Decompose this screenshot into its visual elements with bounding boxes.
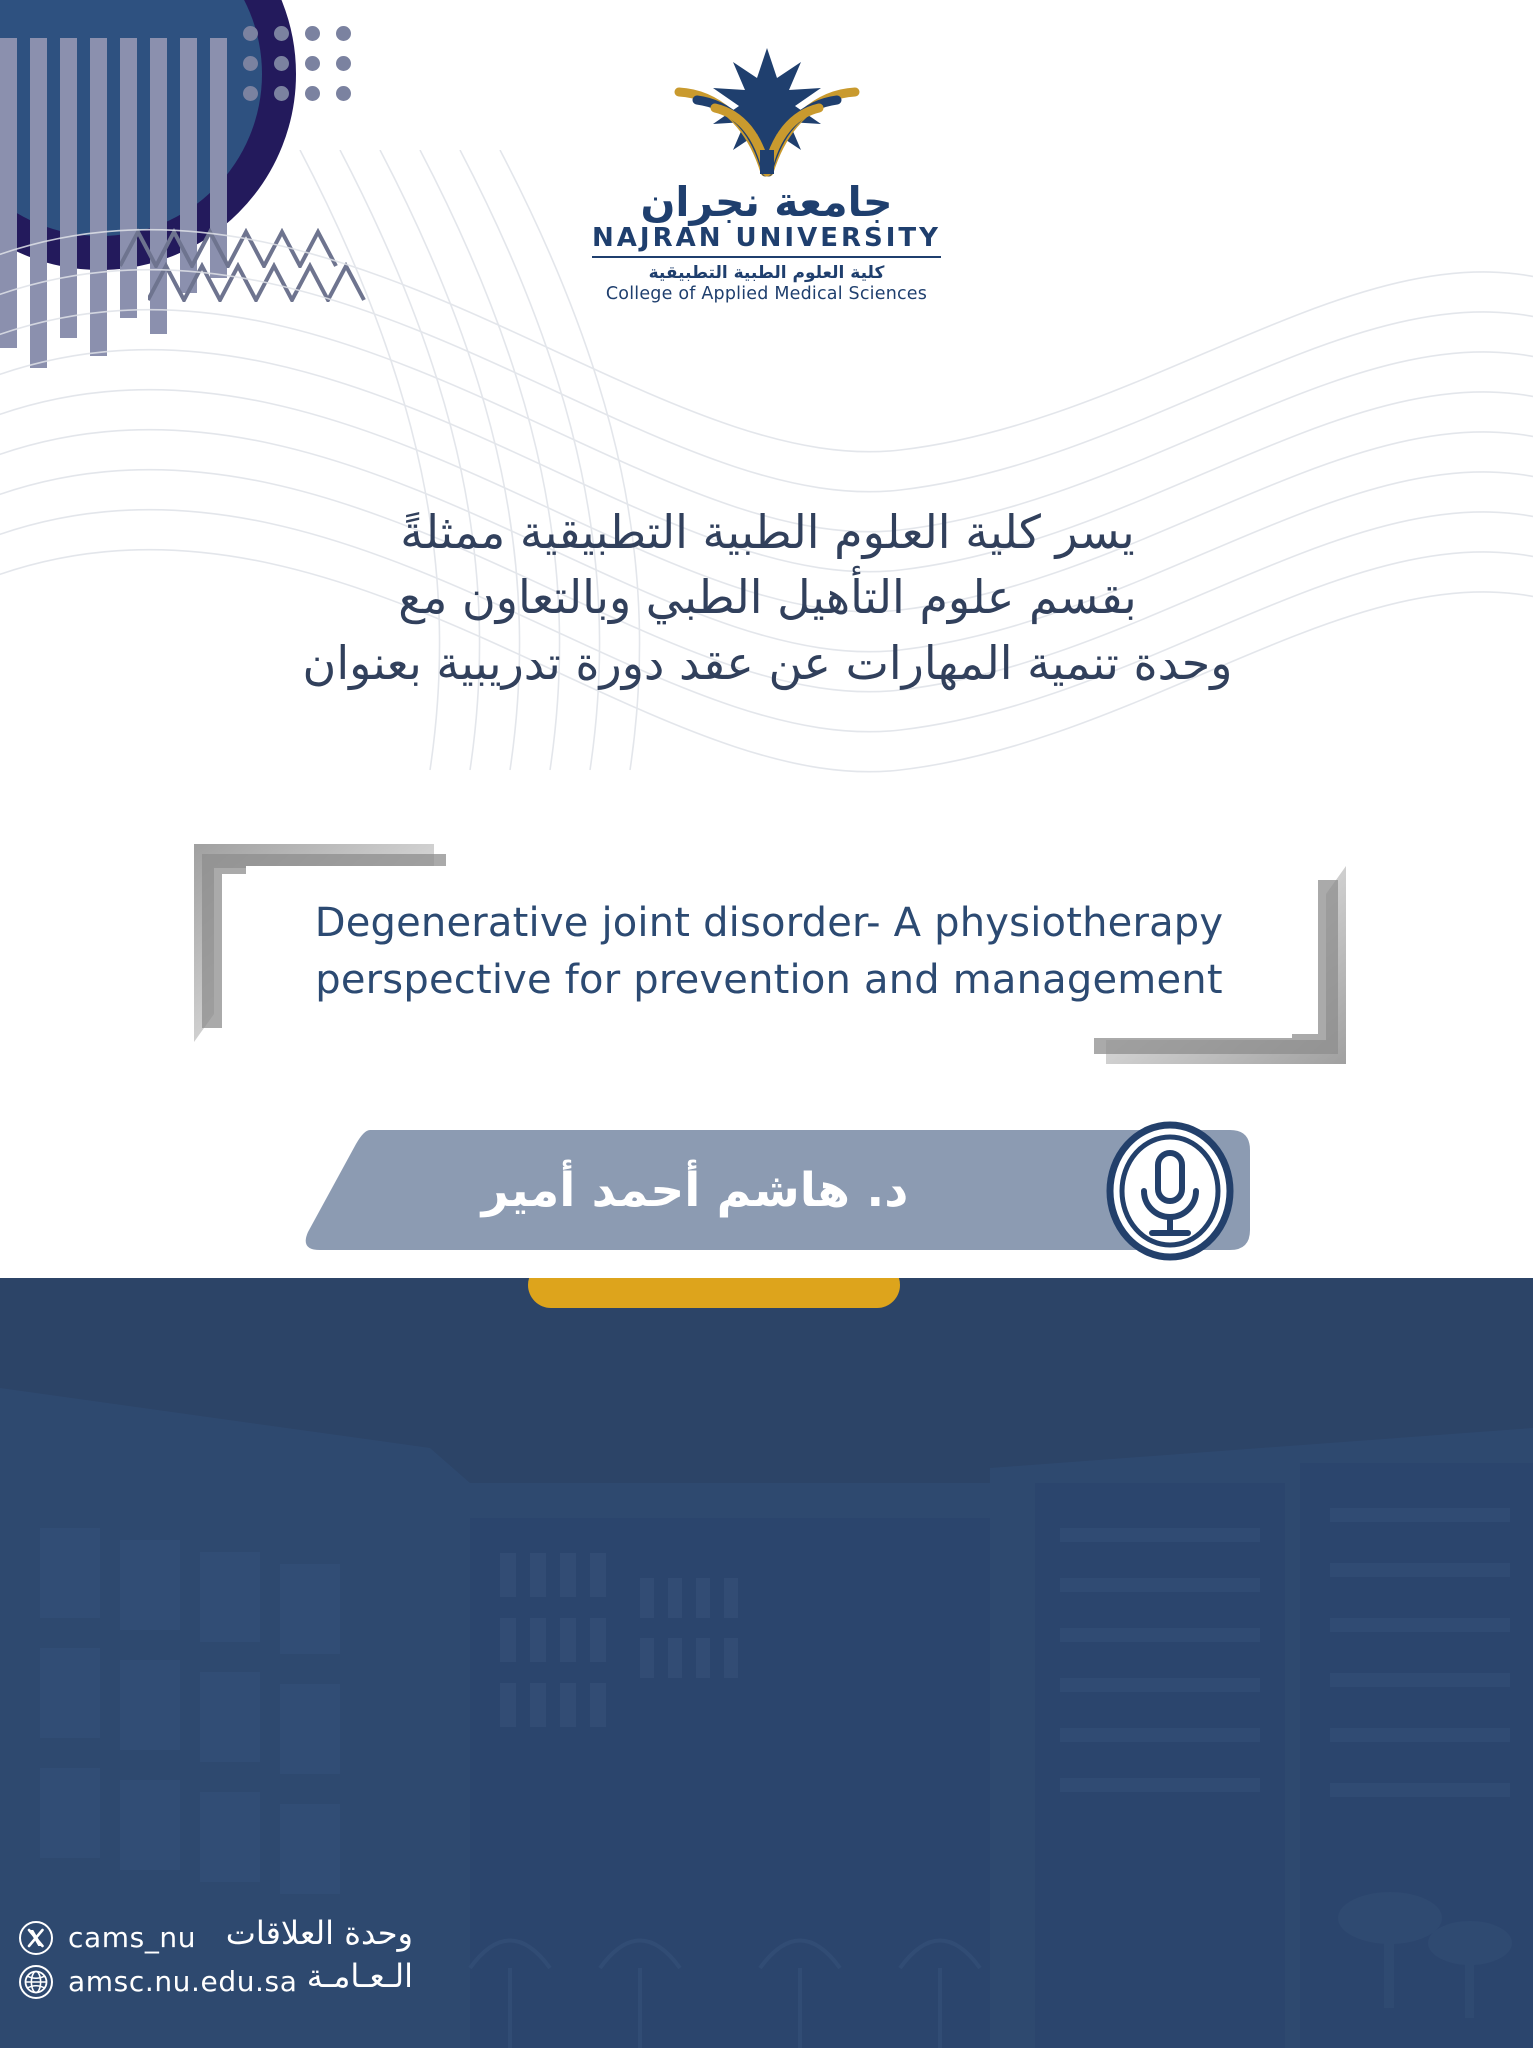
intro-line-1: يسر كلية العلوم الطبية التطبيقية ممثلةً	[140, 500, 1395, 565]
event-poster: جامعة نجران NAJRAN UNIVERSITY كلية العلو…	[0, 0, 1533, 2048]
intro-line-2: بقسم علوم التأهيل الطبي وبالتعاون مع	[140, 565, 1395, 630]
logo-university-name-english: NAJRAN UNIVERSITY	[592, 225, 941, 258]
course-title-line-2: perspective for prevention and managemen…	[315, 957, 1222, 1003]
logo-college-name-arabic: كلية العلوم الطبية التطبيقية	[649, 263, 885, 283]
najran-university-star-book-logo-icon	[667, 46, 867, 178]
logo-college-name-english: College of Applied Medical Sciences	[606, 284, 927, 304]
globe-icon	[18, 1964, 54, 2000]
footer-unit-line-1: وحدة العلاقات	[226, 1912, 413, 1955]
footer-unit-line-2: الـعـامـة	[226, 1955, 413, 1998]
logo-university-name-arabic: جامعة نجران	[640, 182, 892, 223]
course-title-card: Degenerative joint disorder- A physiothe…	[228, 852, 1310, 1052]
contact-twitter-handle: cams_nu	[68, 1924, 196, 1952]
intro-paragraph: يسر كلية العلوم الطبية التطبيقية ممثلةً …	[140, 500, 1395, 696]
speaker-name: د. هاشم أحمد أمير	[300, 1130, 1090, 1250]
footer-band: cams_nu amsc.nu.edu.sa وحدة العلاقات الـ…	[0, 1278, 1533, 2048]
course-title-line-1: Degenerative joint disorder- A physiothe…	[315, 900, 1224, 946]
course-title-box: Degenerative joint disorder- A physiothe…	[246, 866, 1292, 1038]
footer-department-name: وحدة العلاقات الـعـامـة	[226, 1912, 413, 1998]
intro-line-3: وحدة تنمية المهارات عن عقد دورة تدريبية …	[140, 631, 1395, 696]
speaker-bar: د. هاشم أحمد أمير	[300, 1130, 1250, 1250]
gold-accent-bar	[528, 1278, 900, 1308]
microphone-icon	[1100, 1121, 1240, 1261]
university-logo-block: جامعة نجران NAJRAN UNIVERSITY كلية العلو…	[0, 46, 1533, 304]
x-twitter-icon	[18, 1920, 54, 1956]
